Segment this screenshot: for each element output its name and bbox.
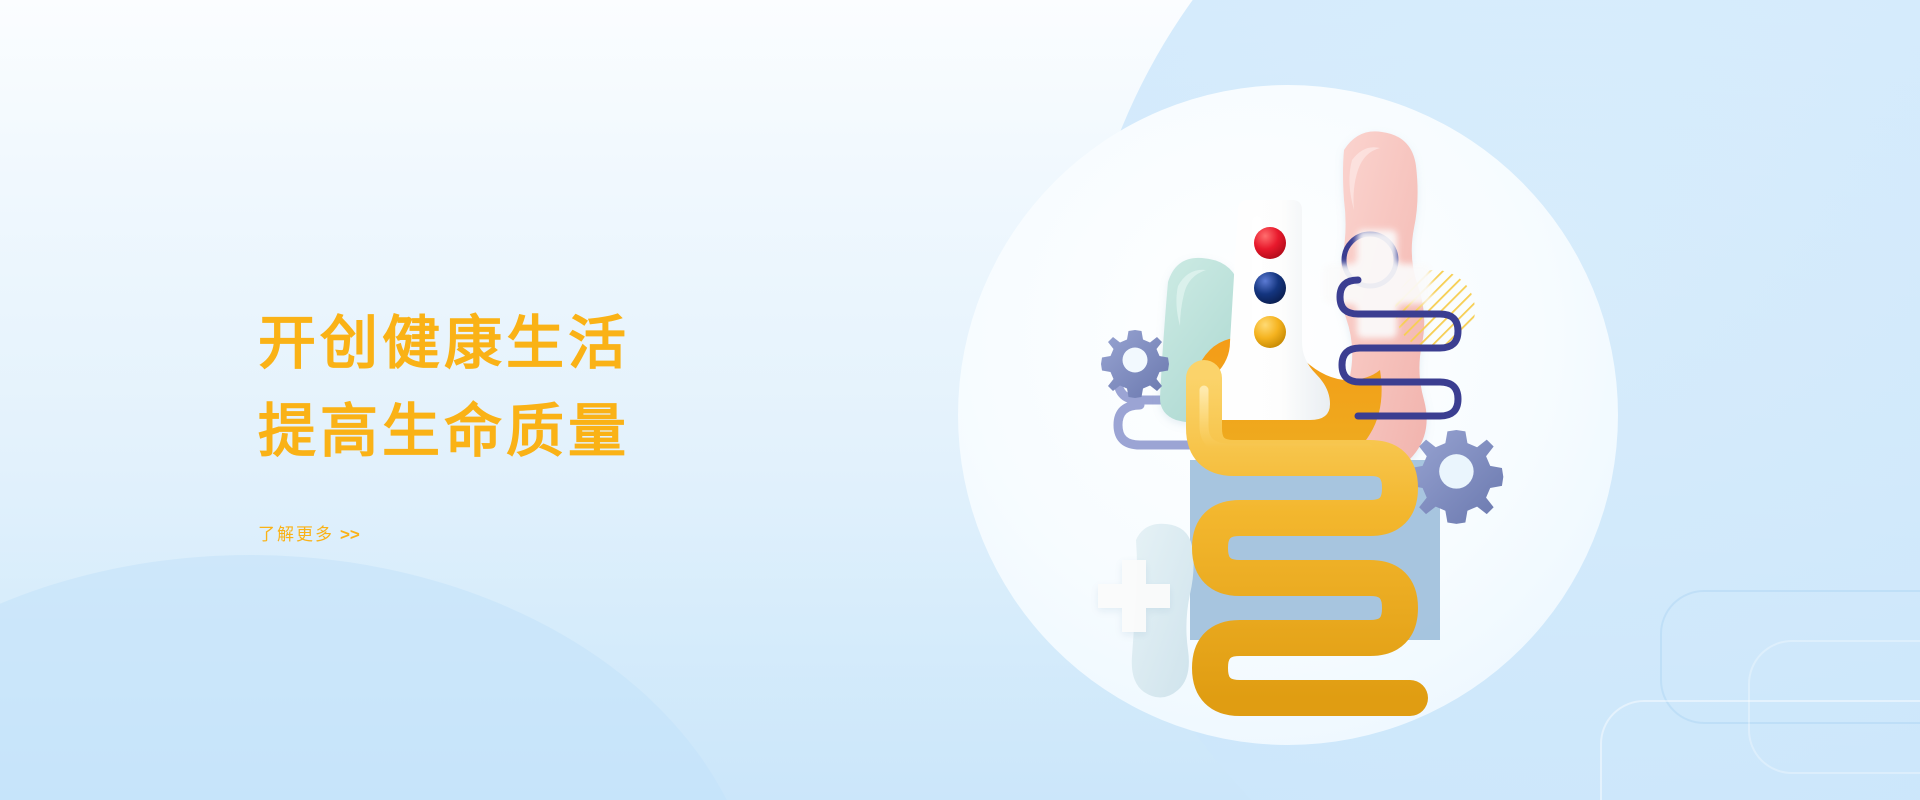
learn-more-label: 了解更多 [258,525,334,544]
flask-dot-yellow [1254,316,1286,348]
flask-dot-navy [1254,272,1286,304]
chevron-right-icon: >> [340,525,360,544]
flask-dot-red [1254,227,1286,259]
hero-copy: 开创健康生活 提高生命质量 了解更多>> [258,300,878,545]
headline-line-2: 提高生命质量 [258,388,878,476]
illustration [940,60,1640,760]
gear-icon-small [1101,330,1169,398]
background-blob-bottom-left [0,555,760,800]
headline-line-1: 开创健康生活 [258,300,878,388]
learn-more-link[interactable]: 了解更多>> [258,520,360,545]
hero-banner: 开创健康生活 提高生命质量 了解更多>> [0,0,1920,800]
gear-icon-large [1409,430,1503,524]
digestive-system-art [940,60,1640,760]
background-rounded-rect-1 [1600,700,1920,800]
